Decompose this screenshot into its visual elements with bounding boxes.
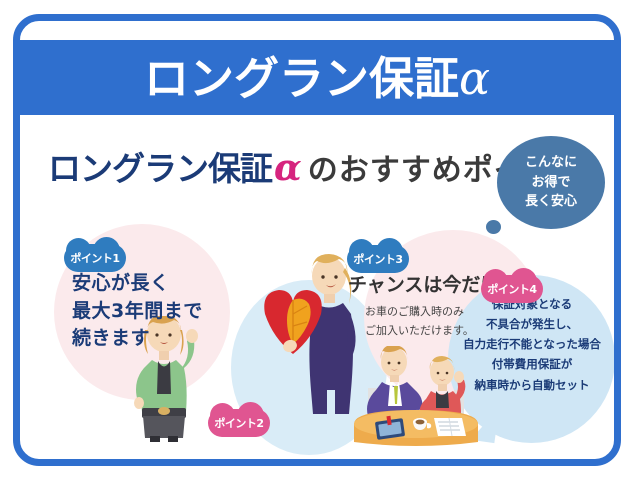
point1-line2: 最大3年間まで [72,298,203,326]
point3-badge: ポイント3 [347,245,409,273]
subtitle-brand: ロングラン保証 [48,149,272,188]
header-title-alpha: α [459,51,490,105]
point4-line5: 納車時から自動セット [452,375,612,395]
point1-badge: ポイント1 [64,244,126,272]
page-title: ロングラン保証α [144,55,490,101]
point4-line3: 自力走行不能となった場合 [452,334,612,354]
poster-root: ロングラン保証α ロングラン保証αのおすすめポイント こんなに お得で 長く安心… [0,0,640,480]
point4-line2: 不具合が発生し、 [452,314,612,334]
top-bubble-tail-dot [486,220,501,234]
point4-badge: ポイント4 [481,275,543,303]
point4-text: 保証対象となる 不具合が発生し、 自力走行不能となった場合 付帯費用保証が 納車… [452,294,612,395]
subtitle-alpha: α [272,147,304,189]
top-bubble-line1: こんなに [525,153,577,173]
point1-line3: 続きます [72,325,203,353]
top-bubble-line2: お得で [531,173,570,193]
point1-text: 安心が長く 最大3年間まで 続きます [72,270,203,353]
header-band: ロングラン保証α [13,40,621,115]
point1-line1: 安心が長く [72,270,203,298]
top-bubble: こんなに お得で 長く安心 [497,136,605,229]
header-title-main: ロングラン保証 [144,52,459,105]
point4-line4: 付帯費用保証が [452,354,612,374]
point2-badge: ポイント2 [208,409,270,437]
content-area: ロングラン保証αのおすすめポイント こんなに お得で 長く安心 ポイント1 安心… [20,120,614,458]
top-bubble-line3: 長く安心 [525,192,577,212]
point2-heading: サイフにやさしい [239,456,391,458]
